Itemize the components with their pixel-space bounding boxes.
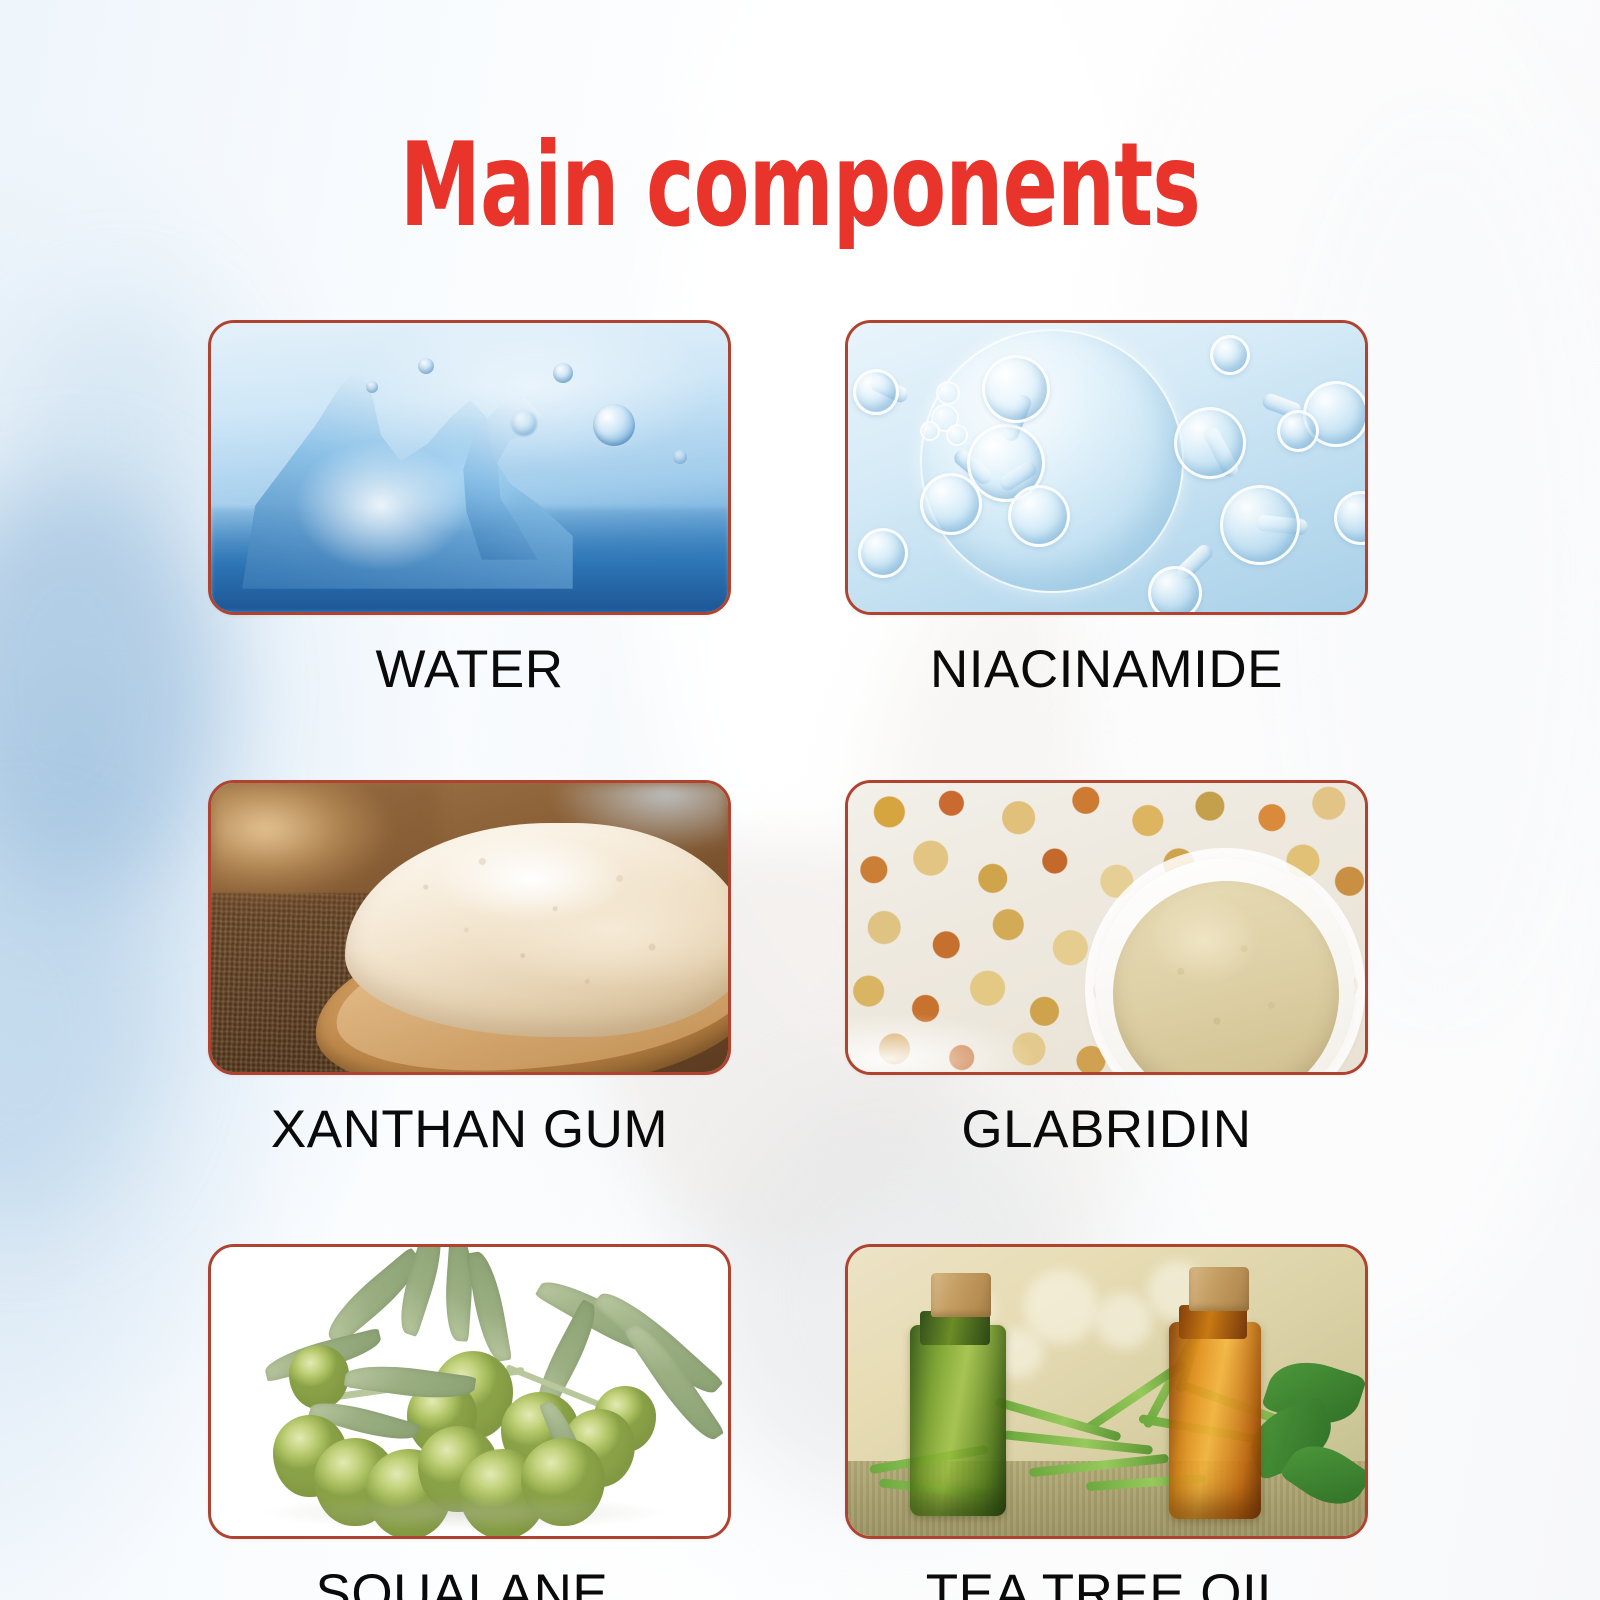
green-oil-bottle <box>910 1325 1006 1516</box>
water-droplet <box>366 381 378 393</box>
molecule-atom <box>1277 410 1319 452</box>
white-powder-spoon-photo <box>211 783 728 1072</box>
component-cell-glabridin: GLABRIDIN <box>845 780 1368 1156</box>
licorice-root-photo <box>848 783 1365 1072</box>
component-card-niacinamide[interactable] <box>845 320 1368 615</box>
molecule-atom <box>853 369 899 415</box>
component-cell-squalane: SQUALANE, <box>208 1244 731 1600</box>
main-components-infographic: Main components <box>0 0 1600 1600</box>
molecule-atom <box>1210 335 1250 375</box>
molecule-atom <box>1008 485 1070 547</box>
water-droplet <box>511 410 537 436</box>
molecule-atom <box>1148 566 1202 612</box>
molecule-atom <box>1334 491 1365 545</box>
olive-shadow <box>263 1496 666 1530</box>
component-label-water: WATER <box>208 615 731 696</box>
component-cell-xanthan-gum: XANTHAN GUM <box>208 780 731 1156</box>
molecule-atom <box>982 355 1050 423</box>
components-row: WATER <box>208 320 1368 696</box>
component-cell-water: WATER <box>208 320 731 696</box>
molecule-atom <box>1174 407 1246 479</box>
water-droplet <box>593 404 635 446</box>
water-splash-photo <box>211 323 728 612</box>
component-cell-niacinamide: NIACINAMIDE <box>845 320 1368 696</box>
water-droplet <box>418 358 434 374</box>
bokeh-light <box>1024 1270 1098 1344</box>
amber-oil-bottle <box>1169 1322 1261 1519</box>
component-cell-tea-tree-oil: TEA TREE OIL <box>845 1244 1368 1600</box>
essential-oil-bottles-photo <box>848 1247 1365 1536</box>
molecule-atom <box>858 528 908 578</box>
component-label-glabridin: GLABRIDIN <box>845 1075 1368 1156</box>
small-molecule-node <box>936 381 960 405</box>
component-label-tea-tree-oil: TEA TREE OIL <box>845 1539 1368 1600</box>
page-title: Main components <box>176 128 1424 244</box>
molecule-structure-photo <box>848 323 1365 612</box>
components-row: XANTHAN GUM GLABRIDIN <box>208 780 1368 1156</box>
molecule-atom <box>1220 485 1300 565</box>
component-card-water[interactable] <box>208 320 731 615</box>
component-label-xanthan-gum: XANTHAN GUM <box>208 1075 731 1156</box>
green-olives-photo <box>211 1247 728 1536</box>
components-row: SQUALANE, <box>208 1244 1368 1600</box>
bokeh-light <box>1096 1293 1152 1349</box>
white-plate <box>848 1014 1034 1072</box>
cork-stopper <box>931 1273 991 1317</box>
row-spacer <box>208 696 1368 780</box>
component-label-squalane: SQUALANE, <box>208 1539 731 1600</box>
row-spacer <box>208 1156 1368 1244</box>
component-label-niacinamide: NIACINAMIDE <box>845 615 1368 696</box>
component-card-glabridin[interactable] <box>845 780 1368 1075</box>
cork-stopper <box>1189 1267 1249 1311</box>
olive-leaf <box>466 1249 512 1364</box>
component-card-tea-tree-oil[interactable] <box>845 1244 1368 1539</box>
water-droplet <box>673 450 687 464</box>
olive-fruit <box>289 1345 349 1409</box>
herb-sprig <box>1003 1430 1153 1455</box>
component-card-xanthan-gum[interactable] <box>208 780 731 1075</box>
components-grid: WATER <box>208 320 1368 1600</box>
component-card-squalane[interactable] <box>208 1244 731 1539</box>
